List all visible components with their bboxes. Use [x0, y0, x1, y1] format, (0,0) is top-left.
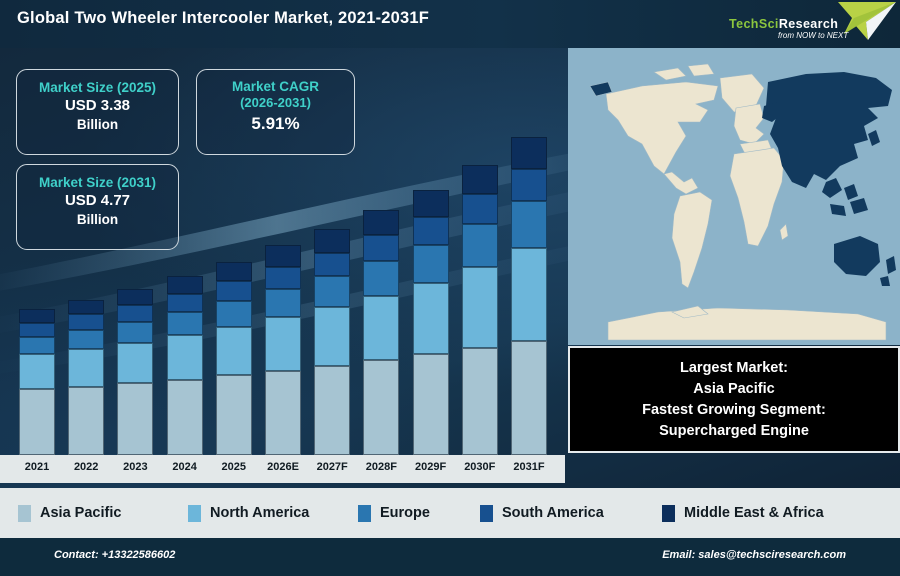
bar-segment-south-america[interactable]: [117, 305, 153, 322]
bar-segment-south-america[interactable]: [265, 267, 301, 289]
bar-segment-asia-pacific[interactable]: [265, 371, 301, 455]
x-axis-label-2023: 2023: [109, 461, 161, 473]
bar-segment-north-america[interactable]: [511, 248, 547, 341]
bar-2030F[interactable]: [462, 165, 498, 455]
bar-2024[interactable]: [167, 276, 203, 455]
bar-2025[interactable]: [216, 262, 252, 455]
bar-2027F[interactable]: [314, 229, 350, 455]
footer-contact: Contact: +13322586602: [54, 549, 175, 561]
legend-label: Middle East & Africa: [684, 505, 824, 521]
bar-segment-europe[interactable]: [19, 337, 55, 354]
bar-segment-south-america[interactable]: [363, 235, 399, 261]
bar-segment-south-america[interactable]: [167, 294, 203, 312]
world-map: [568, 48, 900, 345]
logo-tagline: from NOW to NEXT: [778, 31, 848, 40]
bar-segment-middle-east-africa[interactable]: [511, 137, 547, 169]
legend-swatch: [188, 505, 201, 522]
bar-segment-europe[interactable]: [462, 224, 498, 267]
footer-bar: Contact: +13322586602 Email: sales@techs…: [0, 538, 900, 576]
legend-item-south-america[interactable]: South America: [480, 505, 604, 522]
legend-swatch: [18, 505, 31, 522]
legend-item-north-america[interactable]: North America: [188, 505, 309, 522]
x-axis-label-2024: 2024: [159, 461, 211, 473]
bar-segment-europe[interactable]: [68, 330, 104, 349]
legend-swatch: [358, 505, 371, 522]
bar-segment-south-america[interactable]: [314, 253, 350, 277]
bar-segment-north-america[interactable]: [216, 327, 252, 375]
bar-segment-asia-pacific[interactable]: [68, 387, 104, 455]
bar-segment-north-america[interactable]: [167, 335, 203, 380]
x-axis-label-2028F: 2028F: [355, 461, 407, 473]
x-axis-label-2021: 2021: [11, 461, 63, 473]
x-axis-label-2025: 2025: [208, 461, 260, 473]
bar-2023[interactable]: [117, 289, 153, 455]
bar-segment-middle-east-africa[interactable]: [363, 210, 399, 235]
bar-segment-south-america[interactable]: [413, 217, 449, 245]
bar-segment-asia-pacific[interactable]: [413, 354, 449, 455]
bar-segment-north-america[interactable]: [314, 307, 350, 366]
bar-segment-middle-east-africa[interactable]: [462, 165, 498, 195]
callout-line-largest-market-label: Largest Market:: [680, 358, 788, 379]
legend-label: South America: [502, 505, 604, 521]
chart-legend: Asia PacificNorth AmericaEuropeSouth Ame…: [0, 488, 900, 538]
bar-segment-europe[interactable]: [413, 245, 449, 284]
bar-2022[interactable]: [68, 300, 104, 455]
bar-segment-middle-east-africa[interactable]: [19, 309, 55, 323]
page-title: Global Two Wheeler Intercooler Market, 2…: [17, 9, 429, 28]
bar-segment-north-america[interactable]: [363, 296, 399, 361]
bar-segment-middle-east-africa[interactable]: [68, 300, 104, 315]
callout-box: Largest Market: Asia Pacific Fastest Gro…: [568, 346, 900, 453]
bar-segment-asia-pacific[interactable]: [363, 360, 399, 455]
x-axis-label-2029F: 2029F: [405, 461, 457, 473]
callout-line-fastest-segment-value: Supercharged Engine: [659, 421, 809, 442]
bar-segment-north-america[interactable]: [462, 267, 498, 348]
bar-segment-asia-pacific[interactable]: [167, 380, 203, 455]
bar-segment-south-america[interactable]: [462, 194, 498, 224]
bar-segment-asia-pacific[interactable]: [216, 375, 252, 455]
world-map-svg: [568, 48, 900, 345]
bar-segment-north-america[interactable]: [117, 343, 153, 384]
bar-segment-south-america[interactable]: [68, 314, 104, 329]
stacked-bar-chart: [0, 48, 565, 455]
bar-2031F[interactable]: [511, 137, 547, 455]
x-axis-label-2022: 2022: [60, 461, 112, 473]
bar-segment-south-america[interactable]: [216, 281, 252, 301]
bar-segment-asia-pacific[interactable]: [462, 348, 498, 455]
header-bar: Global Two Wheeler Intercooler Market, 2…: [0, 0, 900, 49]
bar-segment-middle-east-africa[interactable]: [117, 289, 153, 305]
bar-segment-asia-pacific[interactable]: [19, 389, 55, 455]
x-axis-label-2026E: 2026E: [257, 461, 309, 473]
legend-label: Europe: [380, 505, 430, 521]
x-axis-label-2031F: 2031F: [503, 461, 555, 473]
bar-segment-north-america[interactable]: [68, 349, 104, 386]
callout-line-fastest-segment-label: Fastest Growing Segment:: [642, 400, 826, 421]
legend-item-europe[interactable]: Europe: [358, 505, 430, 522]
bar-segment-north-america[interactable]: [413, 283, 449, 354]
bar-segment-europe[interactable]: [265, 289, 301, 317]
bar-segment-north-america[interactable]: [19, 354, 55, 389]
bar-segment-asia-pacific[interactable]: [511, 341, 547, 455]
x-axis-label-2030F: 2030F: [454, 461, 506, 473]
bar-segment-middle-east-africa[interactable]: [265, 245, 301, 266]
legend-item-middle-east-africa[interactable]: Middle East & Africa: [662, 505, 824, 522]
bar-segment-europe[interactable]: [363, 261, 399, 296]
bar-2021[interactable]: [19, 309, 55, 455]
bar-segment-south-america[interactable]: [19, 323, 55, 337]
x-axis: 202120222023202420252026E2027F2028F2029F…: [0, 455, 565, 483]
bar-segment-middle-east-africa[interactable]: [216, 262, 252, 281]
bar-segment-asia-pacific[interactable]: [117, 383, 153, 455]
bar-segment-europe[interactable]: [117, 322, 153, 343]
x-axis-label-2027F: 2027F: [306, 461, 358, 473]
bar-2029F[interactable]: [413, 190, 449, 455]
bar-segment-north-america[interactable]: [265, 317, 301, 371]
bar-2026E[interactable]: [265, 245, 301, 455]
techsci-research-logo: TechSciResearch from NOW to NEXT: [718, 0, 900, 48]
legend-label: Asia Pacific: [40, 505, 121, 521]
bar-segment-middle-east-africa[interactable]: [314, 229, 350, 252]
infographic-page: Global Two Wheeler Intercooler Market, 2…: [0, 0, 900, 576]
callout-line-largest-market-value: Asia Pacific: [693, 379, 774, 400]
legend-item-asia-pacific[interactable]: Asia Pacific: [18, 505, 121, 522]
legend-swatch: [480, 505, 493, 522]
bar-segment-middle-east-africa[interactable]: [167, 276, 203, 293]
legend-label: North America: [210, 505, 309, 521]
bar-segment-middle-east-africa[interactable]: [413, 190, 449, 217]
logo-brand-research: Research: [779, 17, 839, 31]
logo-brand-tech: TechSci: [729, 17, 779, 31]
bar-segment-europe[interactable]: [511, 201, 547, 248]
bar-segment-europe[interactable]: [216, 301, 252, 327]
bar-2028F[interactable]: [363, 210, 399, 455]
legend-swatch: [662, 505, 675, 522]
bar-segment-asia-pacific[interactable]: [314, 366, 350, 455]
footer-email: Email: sales@techsciresearch.com: [662, 549, 846, 561]
bar-segment-europe[interactable]: [167, 312, 203, 335]
logo-wordmark: TechSciResearch: [729, 17, 838, 31]
bar-segment-europe[interactable]: [314, 276, 350, 307]
bar-segment-south-america[interactable]: [511, 169, 547, 201]
